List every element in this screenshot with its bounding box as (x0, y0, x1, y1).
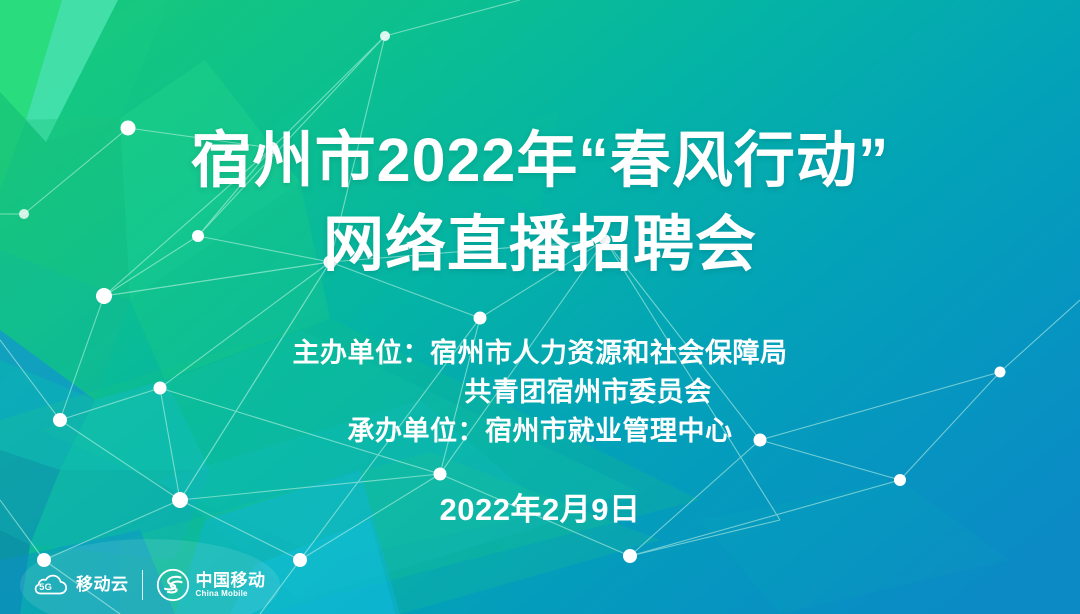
organizer-line-host: 主办单位：宿州市人力资源和社会保障局 (0, 334, 1080, 373)
footer-logo-bar: 5G 移动云 中国移动 China Mobile (32, 568, 266, 602)
organizer-line-operator: 承办单位：宿州市就业管理中心 (0, 412, 1080, 451)
china-mobile-label-en: China Mobile (196, 590, 266, 599)
event-date: 2022年2月9日 (0, 484, 1080, 529)
title-line-2: 网络直播招聘会 (0, 202, 1080, 286)
poster-title: 宿州市2022年“春风行动” 网络直播招聘会 (0, 118, 1080, 286)
logo-divider (142, 570, 143, 600)
organizer-block: 主办单位：宿州市人力资源和社会保障局 共青团宿州市委员会 承办单位：宿州市就业管… (0, 334, 1080, 451)
china-mobile-label-cn: 中国移动 (196, 572, 266, 590)
organizer-line-cohost: 共青团宿州市委员会 (0, 373, 1080, 412)
svg-text:5G: 5G (39, 582, 52, 593)
mobile-cloud-label: 移动云 (76, 576, 129, 594)
china-mobile-icon (156, 568, 190, 602)
event-poster: 宿州市2022年“春风行动” 网络直播招聘会 主办单位：宿州市人力资源和社会保障… (0, 0, 1080, 614)
china-mobile-wordmark: 中国移动 China Mobile (196, 572, 266, 599)
title-line-1: 宿州市2022年“春风行动” (0, 118, 1080, 202)
cloud-5g-icon: 5G (32, 572, 70, 599)
mobile-cloud-logo: 5G 移动云 (32, 572, 129, 599)
china-mobile-logo: 中国移动 China Mobile (156, 568, 266, 602)
